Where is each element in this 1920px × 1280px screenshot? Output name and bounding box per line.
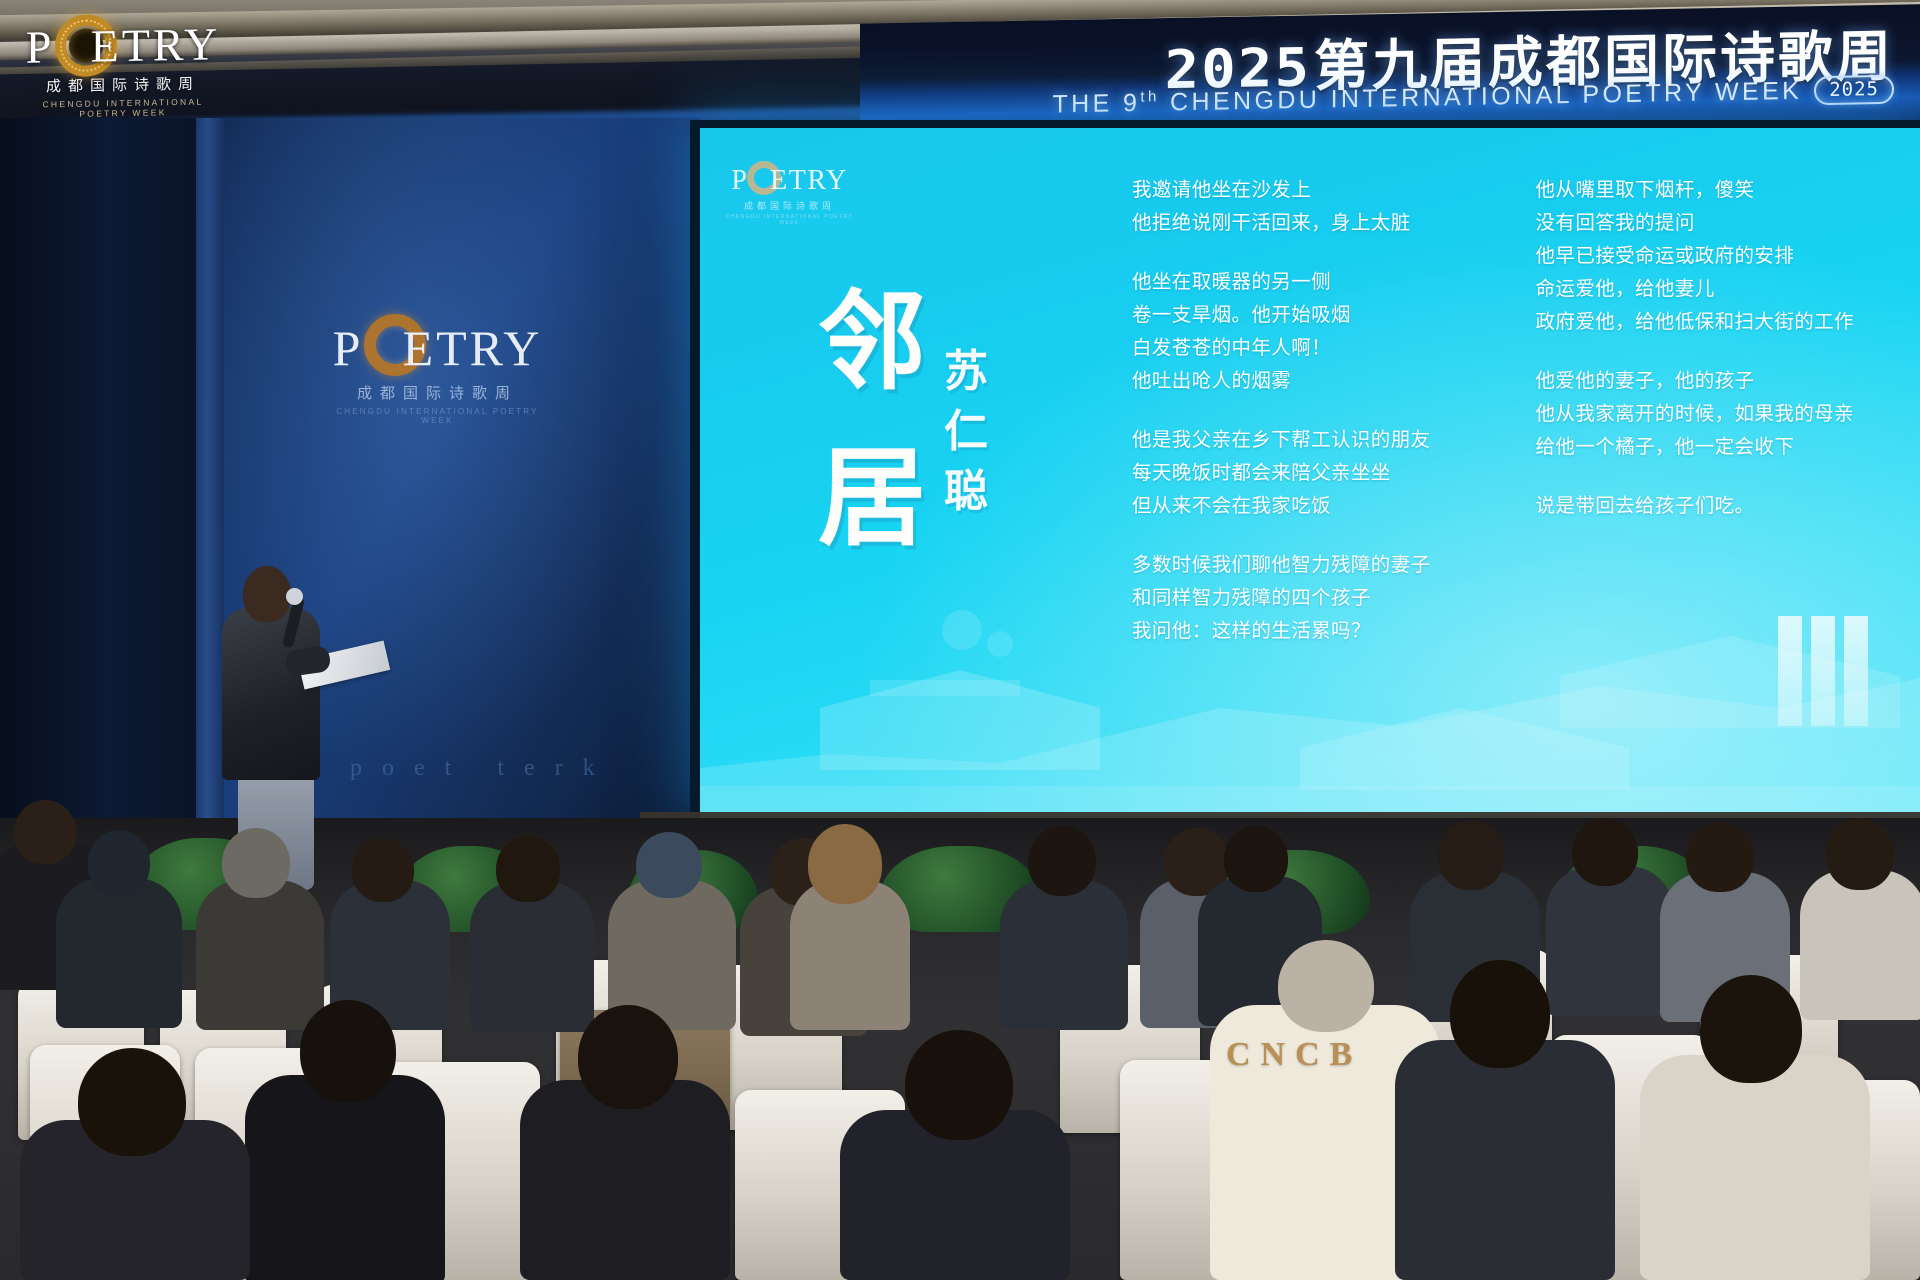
- audience-head: [1686, 822, 1754, 892]
- speaker-head: [243, 566, 291, 622]
- poem-line: 他早已接受命运或政府的安排: [1536, 240, 1854, 273]
- wall-column-edge: [196, 118, 224, 858]
- screenshot-root: 2025 第九届成都国际诗歌周 THE 9th CHENGDU INTERNAT…: [0, 0, 1920, 1280]
- audience-body: [520, 1080, 730, 1280]
- poem-line: 他是我父亲在乡下帮工认识的朋友: [1132, 424, 1431, 457]
- slide-logo-english: CHENGDU INTERNATIONAL POETRY WEEK: [722, 214, 857, 226]
- audience-head: [578, 1005, 678, 1109]
- audience-body: [245, 1075, 445, 1280]
- audience-head: [1438, 820, 1504, 890]
- poem-author-char: 苏: [944, 350, 988, 394]
- audience-head: [14, 800, 76, 864]
- wall-dark-column: [0, 118, 196, 858]
- poem-line: 多数时候我们聊他智力残障的妻子: [1132, 549, 1431, 582]
- audience-head: [352, 838, 414, 902]
- poem-line: 他从我家离开的时候，如果我的母亲: [1536, 398, 1854, 431]
- poem-stanza: 多数时候我们聊他智力残障的妻子 和同样智力残障的四个孩子 我问他：这样的生活累吗…: [1132, 549, 1431, 648]
- wall-word-right: ETRY: [403, 320, 543, 376]
- poem-line: 他拒绝说刚干活回来，身上太脏: [1132, 207, 1431, 240]
- audience-body: [1000, 880, 1128, 1030]
- wall-faint-text: poet terk: [350, 755, 615, 782]
- poem-stanza: 说是带回去给孩子们吃。: [1536, 490, 1854, 523]
- slide-logo-wordmark: POETRY: [722, 164, 857, 198]
- audience-head: [1278, 940, 1374, 1032]
- audience-head: [636, 832, 702, 898]
- speaker-body: [222, 608, 320, 780]
- projection-screen: POETRY 成都国际诗歌周 CHENGDU INTERNATIONAL POE…: [700, 128, 1920, 818]
- audience-head: [222, 828, 290, 898]
- jacket-text: CNCB: [1226, 1036, 1362, 1074]
- audience-body: [196, 880, 324, 1030]
- poem-stanza: 他是我父亲在乡下帮工认识的朋友 每天晚饭时都会来陪父亲坐坐 但从来不会在我家吃饭: [1132, 424, 1431, 523]
- poem-line: 我问他：这样的生活累吗？: [1132, 615, 1431, 648]
- poem-author-char: 仁: [944, 410, 988, 454]
- poem-line: 没有回答我的提问: [1536, 207, 1854, 240]
- poem-line: 他从嘴里取下烟杆，傻笑: [1536, 174, 1854, 207]
- audience-body: [56, 878, 182, 1028]
- poem-title-char: 居: [818, 444, 926, 552]
- poem-title-char: 邻: [818, 288, 926, 396]
- audience-body: [1395, 1040, 1615, 1280]
- audience-head: [88, 830, 150, 896]
- logo-english-subtitle: CHENGDU INTERNATIONAL POETRY WEEK: [18, 96, 228, 120]
- poem-column-right: 他从嘴里取下烟杆，傻笑 没有回答我的提问 他早已接受命运或政府的安排 命运爱他，…: [1536, 174, 1854, 674]
- poem-title-characters: 邻 居: [818, 288, 926, 552]
- audience-head: [496, 836, 560, 902]
- audience-head: [1450, 960, 1550, 1068]
- wall-logo-english: CHENGDU INTERNATIONAL POETRY WEEK: [330, 407, 545, 425]
- logo-wordmark-row: POETRY: [18, 18, 228, 74]
- audience-head: [300, 1000, 396, 1102]
- wall-logo-wordmark-row: POETRY: [330, 318, 545, 378]
- logo-chinese-subtitle: 成都国际诗歌周: [18, 72, 228, 97]
- poetry-logo-topleft: POETRY 成都国际诗歌周 CHENGDU INTERNATIONAL POE…: [18, 18, 228, 120]
- audience-body: [1640, 1055, 1870, 1280]
- audience-head: [1572, 818, 1638, 886]
- poem-line: 我邀请他坐在沙发上: [1132, 174, 1431, 207]
- poem-column-left: 我邀请他坐在沙发上 他拒绝说刚干活回来，身上太脏 他坐在取暖器的另一侧 卷一支旱…: [1132, 174, 1431, 674]
- poem-line: 给他一个橘子，他一定会收下: [1536, 431, 1854, 464]
- poem-author-characters: 苏 仁 聪: [944, 350, 988, 514]
- audience-body: [1546, 866, 1674, 1016]
- poem-stanza: 他坐在取暖器的另一侧 卷一支旱烟。他开始吸烟 白发苍苍的中年人啊！ 他吐出呛人的…: [1132, 266, 1431, 398]
- poem-stanza: 我邀请他坐在沙发上 他拒绝说刚干活回来，身上太脏: [1132, 174, 1431, 240]
- slide-word-left: P: [731, 165, 748, 196]
- poem-line: 卷一支旱烟。他开始吸烟: [1132, 299, 1431, 332]
- audience-head: [1700, 975, 1802, 1083]
- poem-body: 我邀请他坐在沙发上 他拒绝说刚干活回来，身上太脏 他坐在取暖器的另一侧 卷一支旱…: [1132, 174, 1854, 674]
- logo-wordmark: POETRY: [18, 18, 228, 74]
- audience-body: [470, 882, 594, 1032]
- poem-author-char: 聪: [944, 470, 988, 514]
- poem-stanza: 他从嘴里取下烟杆，傻笑 没有回答我的提问 他早已接受命运或政府的安排 命运爱他，…: [1536, 174, 1854, 339]
- slide-logo-chinese: 成都国际诗歌周: [722, 199, 857, 212]
- poem-title-block: 邻 居 苏 仁 聪: [818, 288, 988, 552]
- audience-head: [78, 1048, 186, 1156]
- audience-head: [808, 824, 882, 904]
- wall-word-left: P: [333, 320, 364, 376]
- poem-line: 说是带回去给孩子们吃。: [1536, 490, 1854, 523]
- header-en-prefix: THE 9: [1053, 89, 1141, 119]
- slide-poetry-logo: POETRY 成都国际诗歌周 CHENGDU INTERNATIONAL POE…: [722, 164, 857, 226]
- audience-head: [1028, 826, 1096, 896]
- wall-banner-logo: POETRY 成都国际诗歌周 CHENGDU INTERNATIONAL POE…: [330, 318, 545, 425]
- poem-line: 他吐出呛人的烟雾: [1132, 365, 1431, 398]
- poem-line: 和同样智力残障的四个孩子: [1132, 582, 1431, 615]
- audience-head: [1224, 826, 1288, 892]
- audience-head: [1826, 818, 1894, 890]
- slide-word-right: ETRY: [770, 165, 848, 196]
- poem-line: 每天晚饭时都会来陪父亲坐坐: [1132, 457, 1431, 490]
- logo-word-left: P: [26, 21, 55, 72]
- wall-logo-chinese: 成都国际诗歌周: [330, 382, 545, 403]
- wall-logo-wordmark: POETRY: [330, 318, 545, 378]
- audience-body: [1800, 870, 1920, 1020]
- poem-line: 他坐在取暖器的另一侧: [1132, 266, 1431, 299]
- poem-line: 他爱他的妻子，他的孩子: [1536, 365, 1854, 398]
- poem-stanza: 他爱他的妻子，他的孩子 他从我家离开的时候，如果我的母亲 给他一个橘子，他一定会…: [1536, 365, 1854, 464]
- logo-word-right: ETRY: [91, 18, 221, 71]
- poem-line: 但从来不会在我家吃饭: [1132, 490, 1431, 523]
- header-en-ordinal: th: [1140, 88, 1159, 105]
- audience-head: [905, 1030, 1013, 1140]
- header-year-badge: 2025: [1814, 75, 1894, 105]
- microphone-head-icon: [286, 588, 303, 605]
- poem-line: 命运爱他，给他妻儿: [1536, 273, 1854, 306]
- poem-line: 政府爱他，给他低保和扫大街的工作: [1536, 306, 1854, 339]
- slide-logo-wordmark-row: POETRY: [722, 164, 857, 198]
- poem-line: 白发苍苍的中年人啊！: [1132, 332, 1431, 365]
